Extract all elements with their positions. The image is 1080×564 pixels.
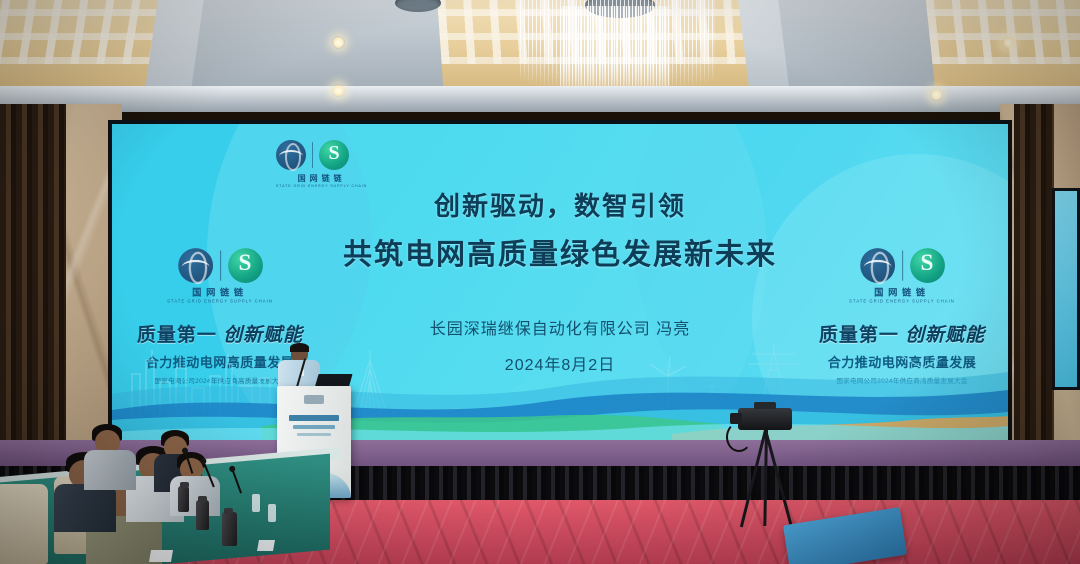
state-grid-globe-icon <box>178 248 213 283</box>
podium-headline <box>289 415 339 421</box>
logo-cn-name: 国网链链 <box>788 286 1012 299</box>
ceiling-front-beam <box>0 86 1080 112</box>
state-grid-globe-icon <box>276 140 306 170</box>
ceiling-lattice-icon <box>925 0 1080 64</box>
logo-cn-name: 国网链链 <box>108 286 334 299</box>
presenter-hair <box>290 343 309 352</box>
thermos-flask <box>222 512 237 546</box>
ceiling-oval-recess <box>395 0 441 12</box>
logo-divider <box>219 250 220 280</box>
supply-chain-s-icon <box>910 248 945 283</box>
video-camera-rig <box>718 408 814 528</box>
water-bottle <box>252 494 260 512</box>
water-bottle <box>268 504 276 522</box>
title-line-1: 创新驱动，数智引领 <box>112 186 1008 223</box>
audience-body <box>84 450 136 490</box>
conference-hall-photo: 国网链链 STATE GRID ENERGY SUPPLY CHAIN 创新驱动… <box>0 0 1080 564</box>
logo-divider <box>312 142 313 168</box>
tripod-leg <box>763 430 768 526</box>
audience-member <box>86 424 136 488</box>
chair <box>0 484 48 564</box>
ceiling <box>0 0 1080 112</box>
downlight-icon <box>332 36 345 49</box>
screen-header-logo: 国网链链 STATE GRID ENERGY SUPPLY CHAIN <box>276 140 367 188</box>
banner-right-logo: 国网链链 STATE GRID ENERGY SUPPLY CHAIN <box>788 248 1012 304</box>
podium-tagline <box>297 433 331 436</box>
downlight-icon <box>1002 36 1015 49</box>
podium-logo <box>304 395 324 404</box>
podium-subline <box>293 425 335 429</box>
logo-cn-name: 国网链链 <box>276 173 367 184</box>
banner-left-logo: 国网链链 STATE GRID ENERGY SUPPLY CHAIN <box>108 248 334 304</box>
camera-cable <box>726 422 752 452</box>
supply-chain-s-icon <box>319 140 349 170</box>
screen-scenery-graphic <box>112 316 1008 444</box>
tripod-leg <box>764 430 793 527</box>
thermos-flask <box>196 500 209 530</box>
ceiling-bay-left <box>0 0 167 86</box>
downlight-icon <box>930 88 943 101</box>
thermos-flask <box>178 486 189 512</box>
logo-divider <box>901 250 902 280</box>
main-led-screen: 国网链链 STATE GRID ENERGY SUPPLY CHAIN 创新驱动… <box>108 120 1012 448</box>
name-card <box>257 540 275 551</box>
logo-en-name: STATE GRID ENERGY SUPPLY CHAIN <box>108 299 334 304</box>
side-led-panel-right <box>1052 188 1080 390</box>
supply-chain-s-icon <box>228 248 263 283</box>
downlight-icon <box>332 84 345 97</box>
state-grid-globe-icon <box>860 248 895 283</box>
document-paper <box>149 550 173 562</box>
logo-en-name: STATE GRID ENERGY SUPPLY CHAIN <box>788 299 1012 304</box>
audience-body <box>54 484 116 532</box>
ceiling-lattice-icon <box>0 0 167 64</box>
